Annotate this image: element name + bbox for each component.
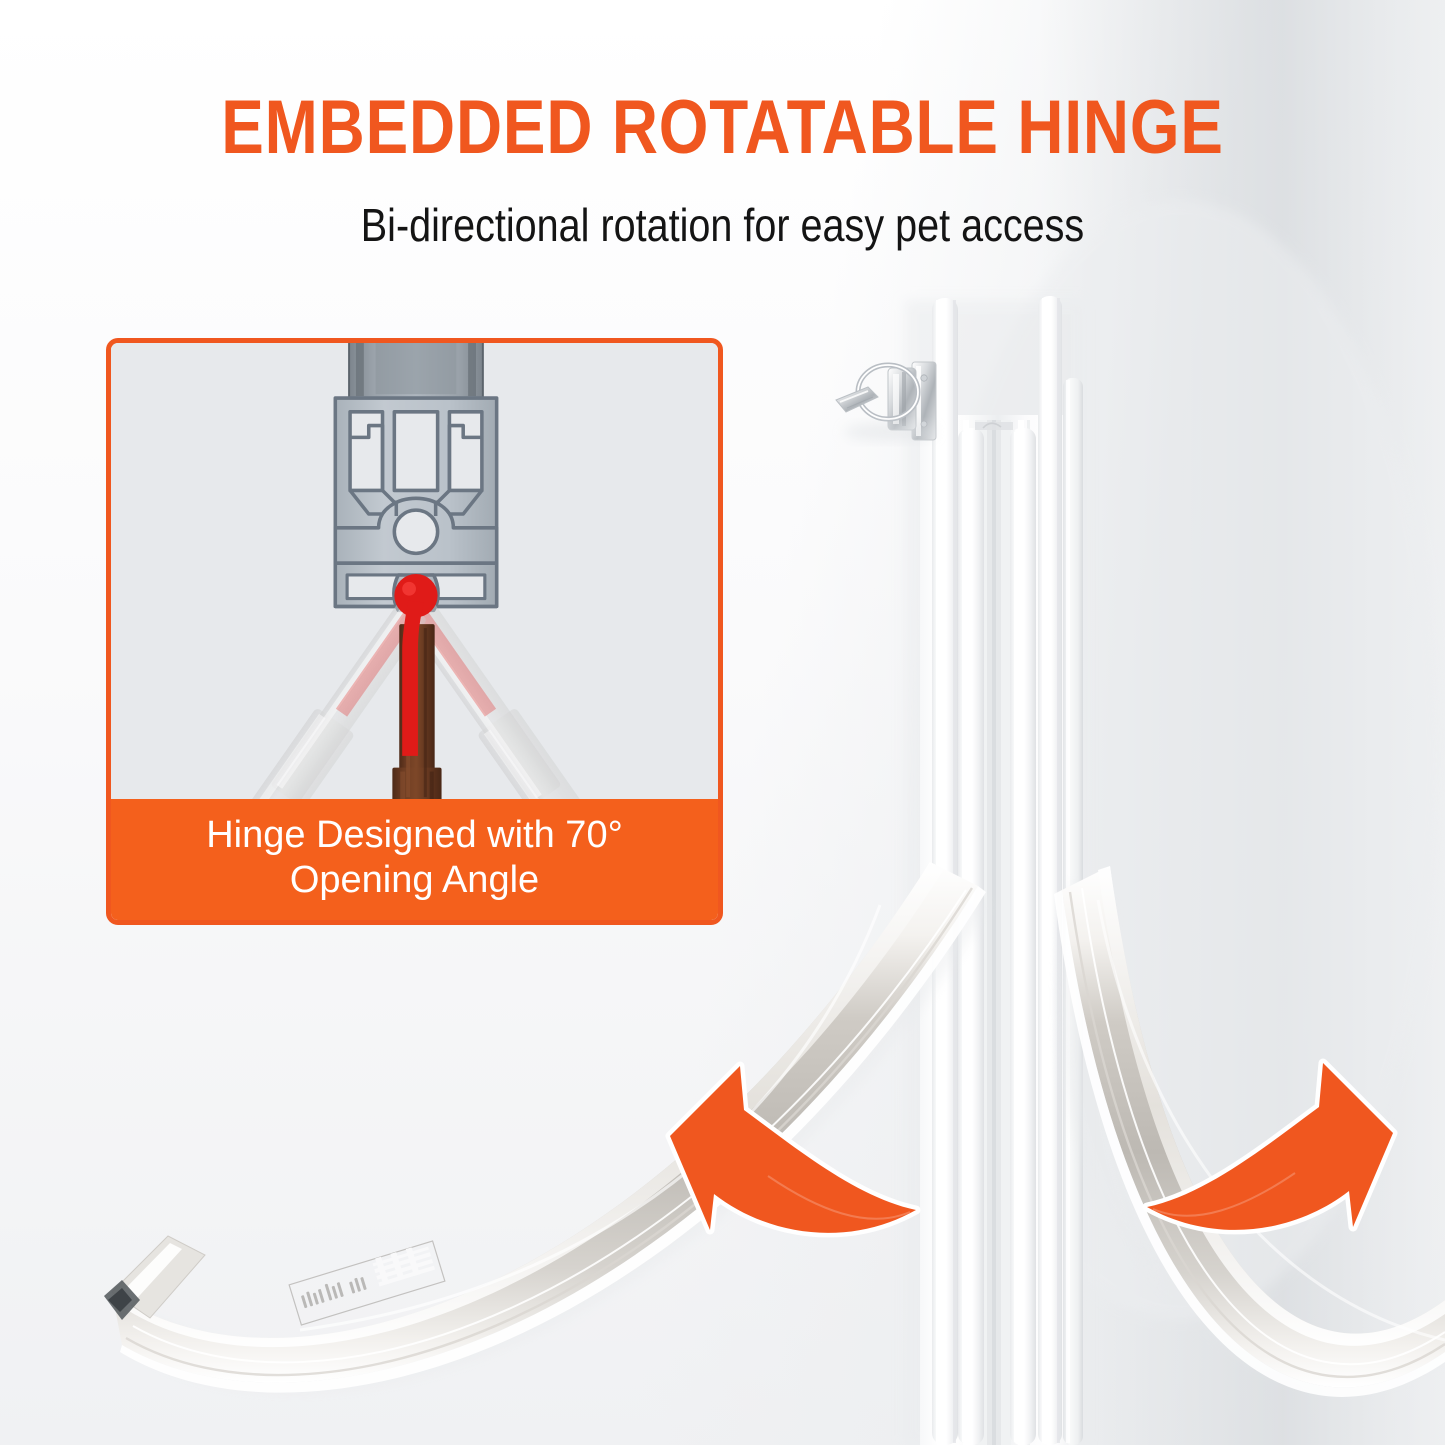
hinge-detail-panel: Hinge Designed with 70° Opening Angle: [106, 338, 723, 925]
page-title: EMBEDDED ROTATABLE HINGE: [116, 88, 1330, 168]
marketing-banner: EMBEDDED ROTATABLE HINGE Bi-directional …: [0, 0, 1445, 1445]
metal-clamp-bracket: [836, 362, 936, 441]
hinge-detail-caption: Hinge Designed with 70° Opening Angle: [110, 799, 719, 921]
curved-gate-bar-left: [104, 862, 990, 1393]
caption-line-1: Hinge Designed with 70°: [120, 813, 709, 858]
page-subtitle: Bi-directional rotation for easy pet acc…: [101, 198, 1344, 252]
upper-rail-cap: [349, 343, 483, 398]
caption-line-2: Opening Angle: [120, 858, 709, 903]
